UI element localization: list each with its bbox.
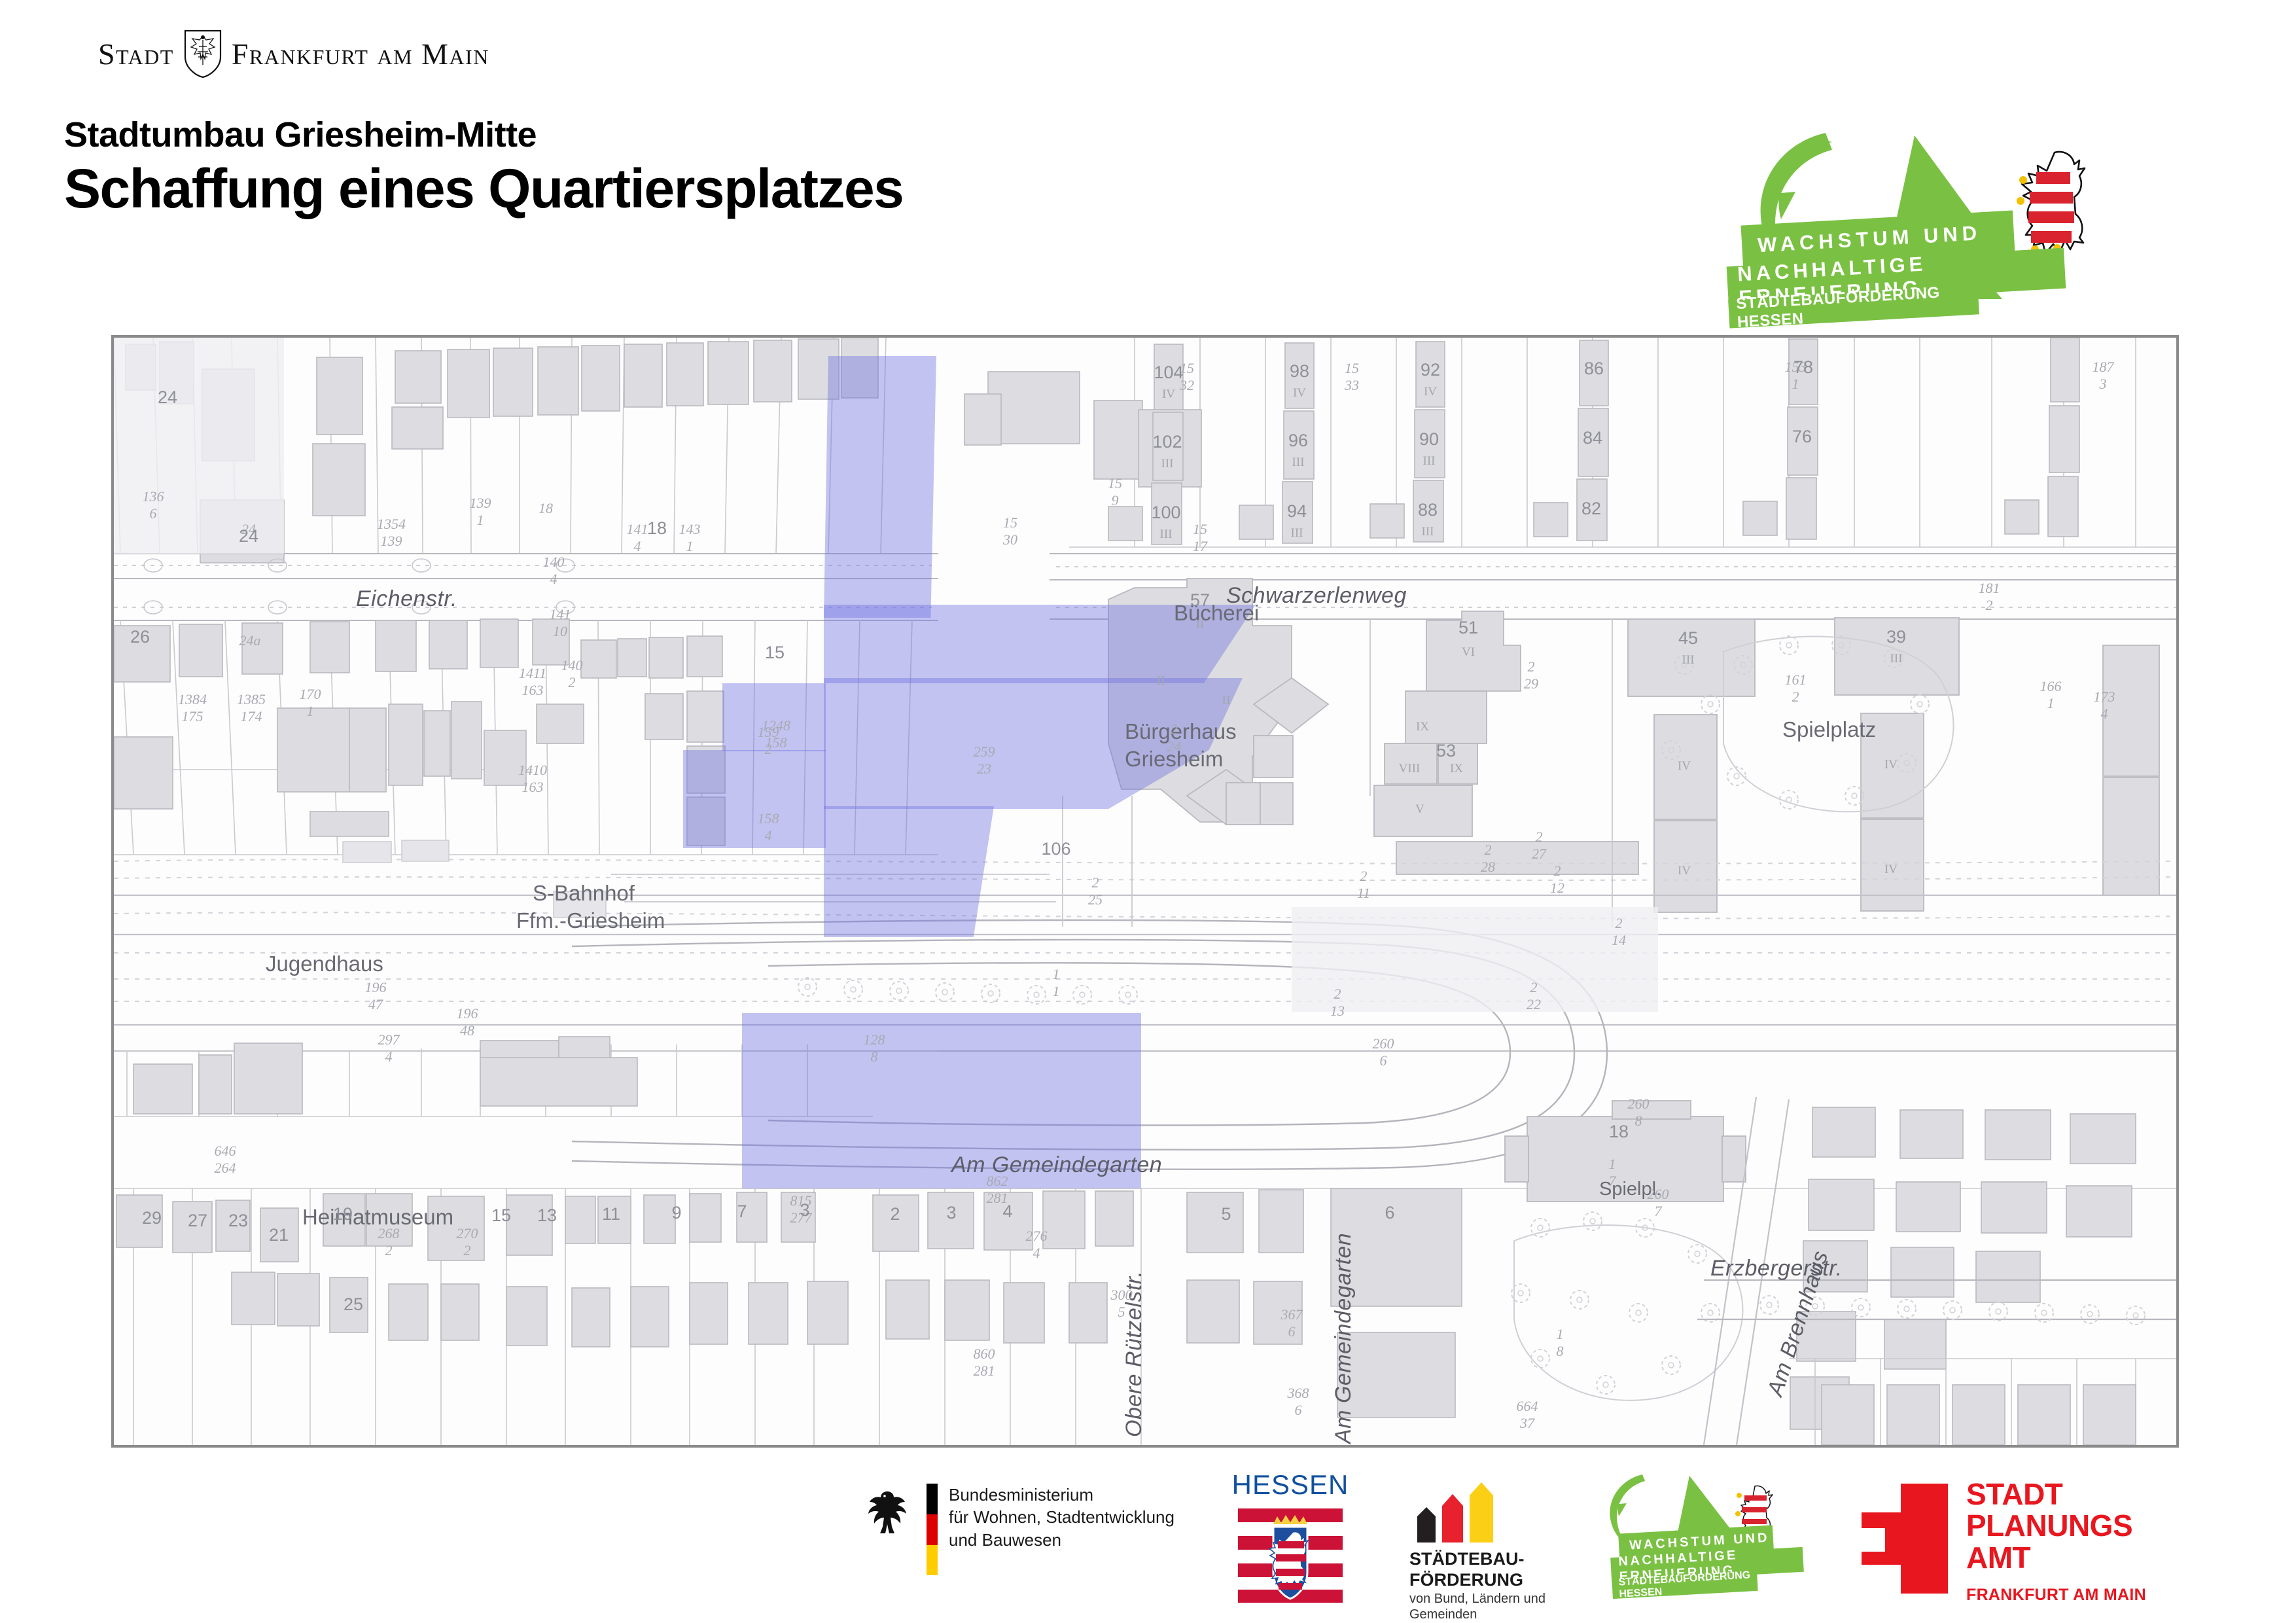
sp-line3: AMT	[1966, 1542, 2132, 1573]
stadt-frankfurt-logo: Stadt Frankfurt am Main	[98, 31, 489, 76]
sp-line1: STADT	[1966, 1478, 2132, 1510]
staedtebau-sub1: von Bund, Ländern und	[1409, 1591, 1545, 1607]
staedtebau-line2: FÖRDERUNG	[1409, 1570, 1525, 1591]
hessen-wordmark: HESSEN	[1225, 1469, 1356, 1501]
staedtebau-line1: STÄDTEBAU-	[1409, 1549, 1525, 1570]
german-flag-bar	[927, 1484, 938, 1575]
map-drawing	[114, 338, 2176, 1445]
three-houses-icon	[1409, 1482, 1508, 1543]
staedtebau-subtitle: von Bund, Ländern und Gemeinden	[1409, 1591, 1545, 1623]
page-title: Schaffung eines Quartiersplatzes	[64, 157, 903, 221]
footer-logo-bar: Bundesministerium für Wohnen, Stadtentwi…	[0, 1469, 2296, 1623]
bmwsb-line2: für Wohnen, Stadtentwicklung	[949, 1506, 1174, 1528]
stadtplanungsamt-wordmark: STADT PLANUNGS AMT	[1966, 1478, 2132, 1573]
wachstum-logo-small: WACHSTUM UND NACHHALTIGE ERNEUERUNG STÄD…	[1590, 1469, 1852, 1623]
hessen-coat-of-arms-icon	[1238, 1505, 1343, 1604]
bmwsb-line3: und Bauwesen	[949, 1529, 1174, 1551]
sp-line2: PLANUNGS	[1966, 1510, 2132, 1541]
stadtplanungsamt-subtitle: FRANKFURT AM MAIN	[1966, 1586, 2146, 1605]
hessen-logo: HESSEN	[1225, 1469, 1356, 1623]
staedtebau-sub2: Gemeinden	[1409, 1607, 1545, 1622]
city-logo-word-frankfurt: Frankfurt am Main	[232, 37, 489, 71]
project-subtitle: Stadtumbau Griesheim-Mitte	[64, 115, 537, 155]
bundesministerium-logo: Bundesministerium für Wohnen, Stadtentwi…	[864, 1469, 1204, 1623]
frankfurt-eagle-shield-icon	[183, 29, 222, 78]
staedtebaufoerderung-logo: STÄDTEBAU- FÖRDERUNG von Bund, Ländern u…	[1400, 1469, 1590, 1623]
stadtplanungsamt-logo: STADT PLANUNGS AMT FRANKFURT AM MAIN	[1862, 1469, 2169, 1623]
bmwsb-line1: Bundesministerium	[949, 1484, 1174, 1506]
stadtplanungsamt-mark-icon	[1862, 1484, 1948, 1594]
page-header: Stadt Frankfurt am Main Stadtumbau Gries…	[0, 0, 2296, 308]
cadastral-map[interactable]: Eichenstr. Schwarzerlenweg Erzbergerstr.…	[111, 335, 2179, 1448]
bundesadler-icon	[864, 1488, 911, 1541]
bundesministerium-text: Bundesministerium für Wohnen, Stadtentwi…	[949, 1484, 1174, 1551]
staedtebau-title: STÄDTEBAU- FÖRDERUNG	[1409, 1549, 1525, 1591]
city-logo-word-stadt: Stadt	[98, 37, 174, 71]
